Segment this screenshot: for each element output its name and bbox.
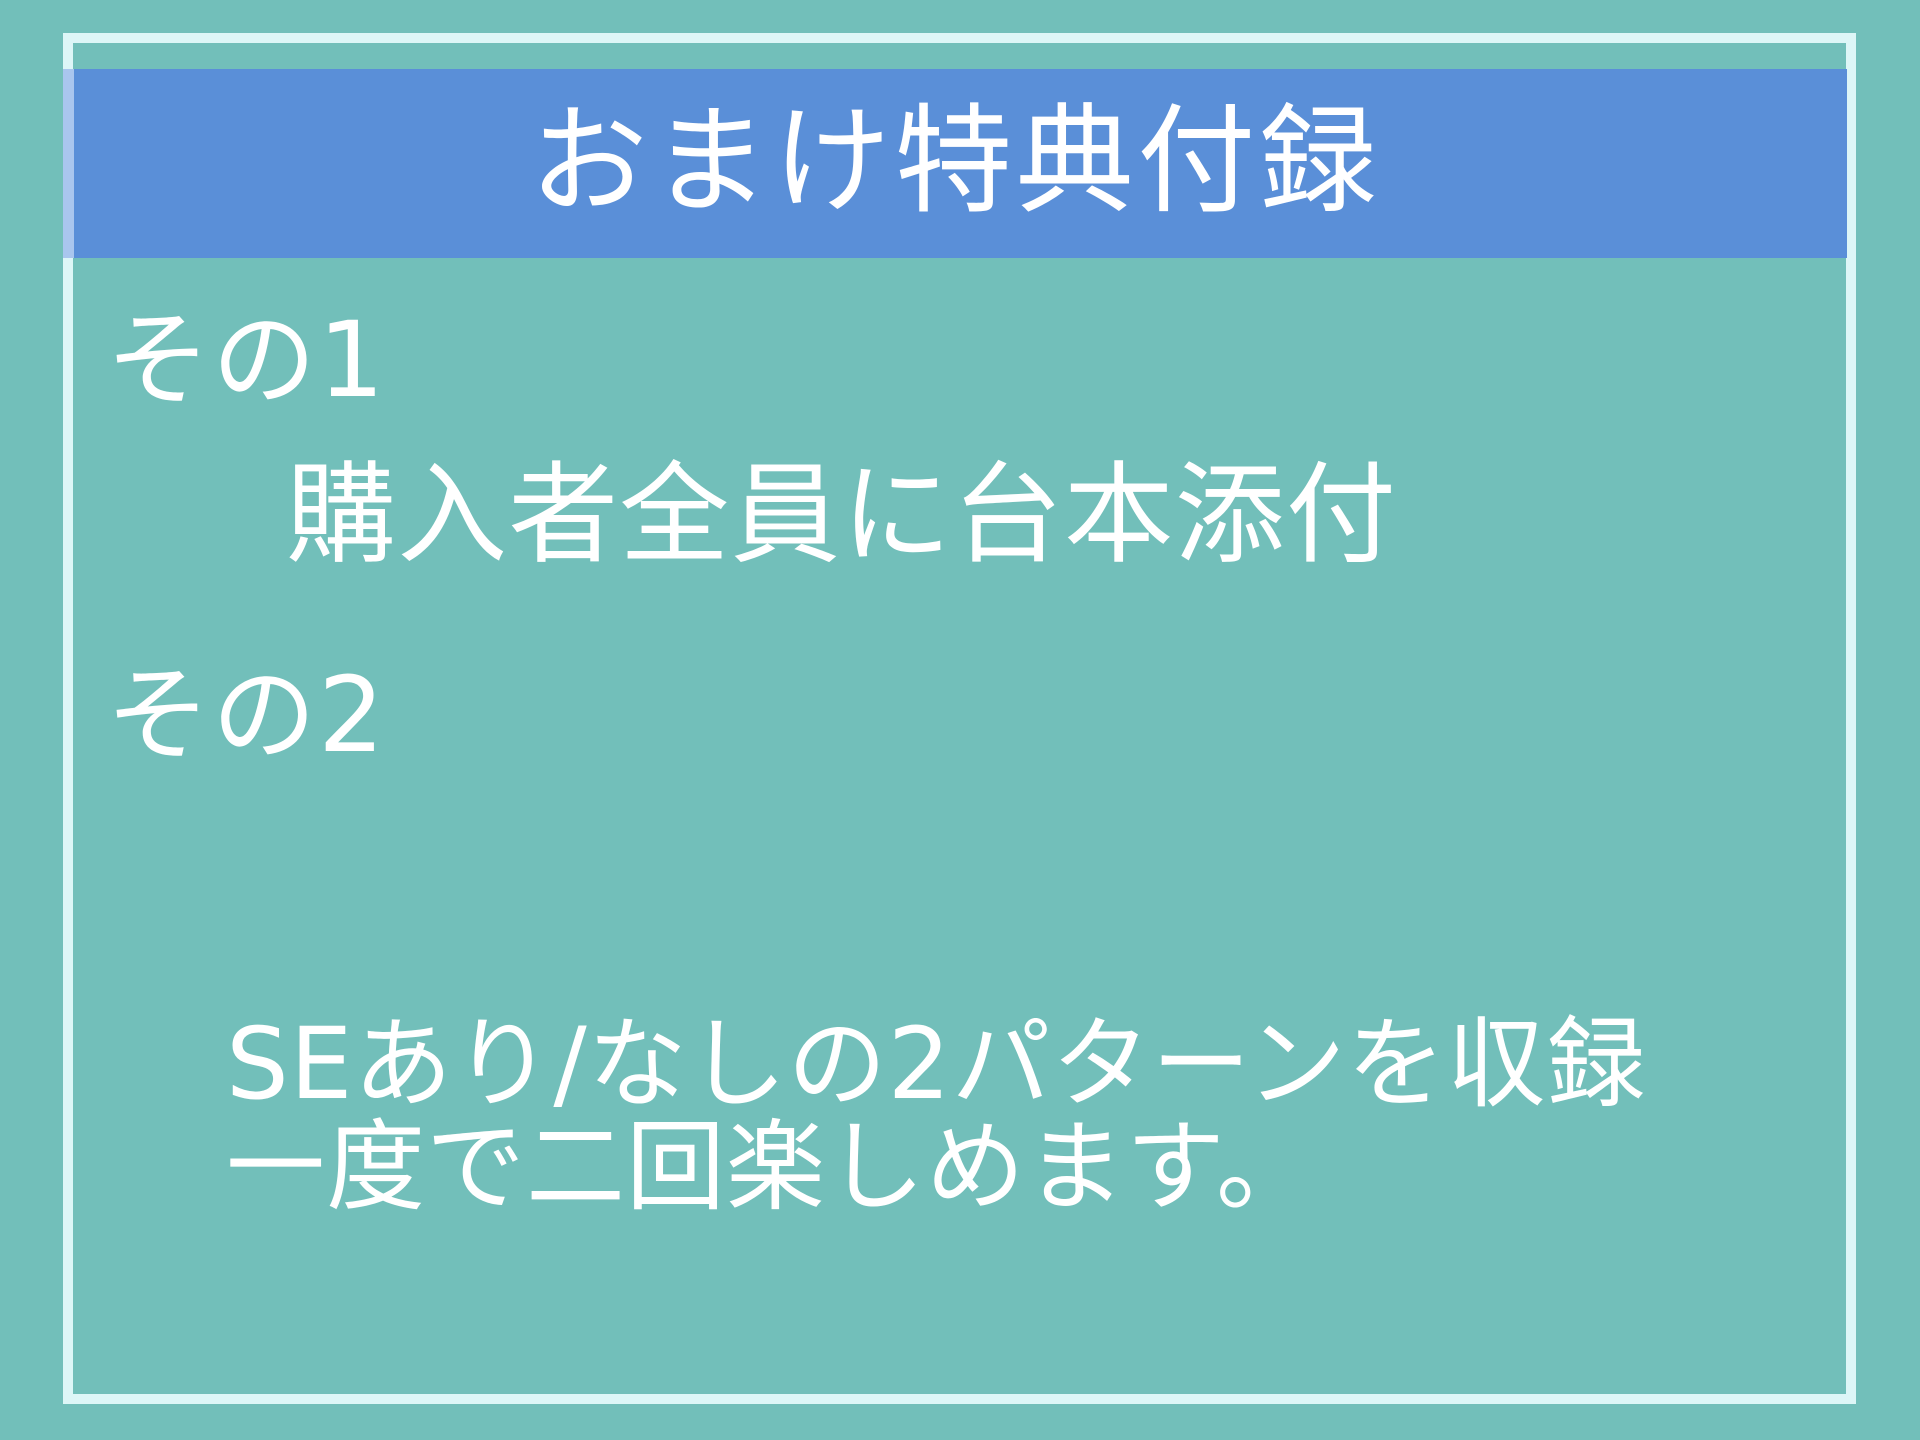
section-detail-2-line-2: 一度で二回楽しめます。	[226, 1116, 1316, 1220]
section-label-2: その2	[106, 663, 386, 767]
section-detail-2-line-1: SEあり/なしの2パターンを収録	[226, 1013, 1647, 1117]
title-banner: おまけ特典付録	[63, 69, 1847, 258]
section-label-1: その1	[106, 308, 386, 412]
slide-canvas: おまけ特典付録 その1 購入者全員に台本添付 その2 SEあり/なしの2パターン…	[0, 0, 1920, 1440]
section-detail-1-line-1: 購入者全員に台本添付	[286, 458, 1397, 574]
bonus-list: その1 購入者全員に台本添付 その2 SEあり/なしの2パターンを収録 一度で二…	[90, 278, 1830, 1388]
page-title: おまけ特典付録	[530, 102, 1381, 226]
